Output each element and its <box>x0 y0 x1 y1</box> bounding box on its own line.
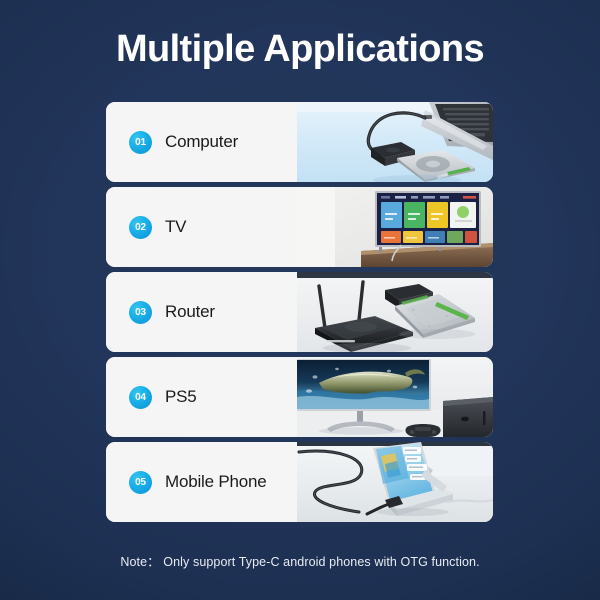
card-label-area: 05 Mobile Phone <box>106 442 297 522</box>
card-label: PS5 <box>165 387 197 407</box>
application-card-computer[interactable]: 01 Computer <box>106 102 493 182</box>
card-label: TV <box>165 217 186 237</box>
application-card-mobile-phone[interactable]: 05 Mobile Phone <box>106 442 493 522</box>
application-scenarios-panel: Multiple Applications 01 Computer <box>0 0 600 600</box>
card-number-badge: 02 <box>129 216 152 239</box>
card-label: Mobile Phone <box>165 472 267 492</box>
card-number-badge: 04 <box>129 386 152 409</box>
application-card-router[interactable]: 03 Router <box>106 272 493 352</box>
card-label-area: 04 PS5 <box>106 357 297 437</box>
card-number-badge: 03 <box>129 301 152 324</box>
card-label: Router <box>165 302 215 322</box>
smart-tv-on-wooden-console-photo <box>297 187 493 267</box>
card-number-badge: 05 <box>129 471 152 494</box>
laptop-with-sata-adapter-and-hard-drive-photo <box>297 102 493 182</box>
footer-note: Note： Only support Type-C android phones… <box>0 551 600 570</box>
application-card-ps5[interactable]: 04 PS5 <box>106 357 493 437</box>
card-label-area: 01 Computer <box>106 102 297 182</box>
ultrawide-monitor-with-game-console-photo <box>297 357 493 437</box>
card-number-badge: 01 <box>129 131 152 154</box>
page-title: Multiple Applications <box>0 26 600 72</box>
card-label: Computer <box>165 132 238 152</box>
card-label-area: 02 TV <box>106 187 297 267</box>
card-label-area: 03 Router <box>106 272 297 352</box>
application-card-tv[interactable]: 02 TV <box>106 187 493 267</box>
application-card-list: 01 Computer <box>106 102 493 527</box>
phone-on-stand-with-usb-c-cable-photo <box>297 442 493 522</box>
router-with-hard-drive-photo <box>297 272 493 352</box>
